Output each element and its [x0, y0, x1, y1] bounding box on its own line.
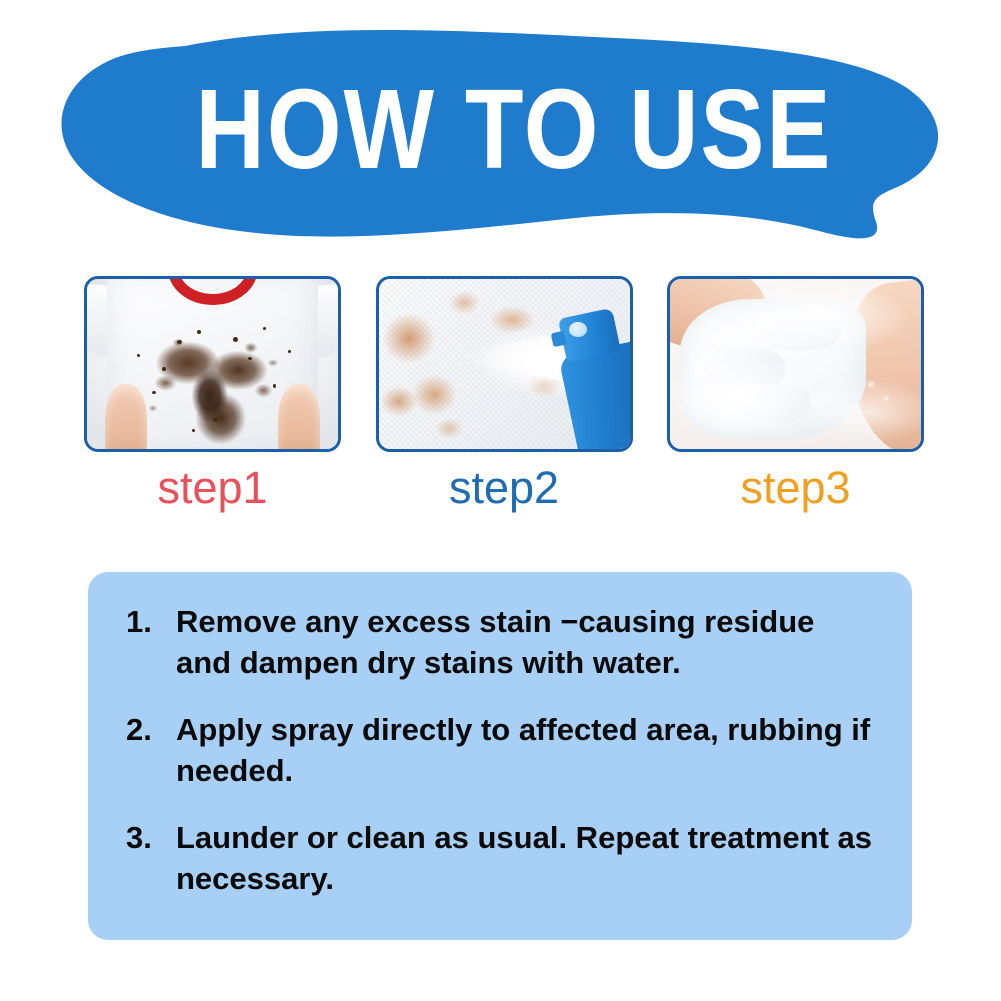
instruction-text-2: Apply spray directly to affected area, r… — [176, 710, 876, 792]
step-item-3: step3 — [667, 276, 924, 511]
step-item-2: step2 — [376, 276, 633, 511]
step-item-1: step1 — [84, 276, 341, 511]
step-3-label: step3 — [667, 464, 924, 511]
steps-row: step1 step2 — [84, 276, 924, 511]
step-1-image-frame — [84, 276, 341, 452]
instruction-number-1: 1. — [126, 602, 176, 643]
instruction-text-1: Remove any excess stain −causing residue… — [176, 602, 876, 684]
instruction-number-2: 2. — [126, 710, 176, 751]
instruction-item-1: 1. Remove any excess stain −causing resi… — [126, 602, 878, 684]
instructions-panel: 1. Remove any excess stain −causing resi… — [88, 572, 912, 940]
step-2-label: step2 — [376, 464, 633, 511]
instruction-number-3: 3. — [126, 818, 176, 859]
step-1-label: step1 — [84, 464, 341, 511]
page-title: HOW TO USE — [55, 0, 955, 267]
header-banner: HOW TO USE — [55, 28, 955, 260]
instruction-item-2: 2. Apply spray directly to affected area… — [126, 710, 878, 792]
step-3-image-frame — [667, 276, 924, 452]
step-2-image-frame — [376, 276, 633, 452]
spray-bottle-on-stain-photo — [379, 279, 630, 449]
hand-washing-fabric-photo — [670, 279, 921, 449]
instruction-text-3: Launder or clean as usual. Repeat treatm… — [176, 818, 876, 900]
stained-white-tshirt-photo — [87, 279, 338, 449]
instruction-item-3: 3. Launder or clean as usual. Repeat tre… — [126, 818, 878, 900]
